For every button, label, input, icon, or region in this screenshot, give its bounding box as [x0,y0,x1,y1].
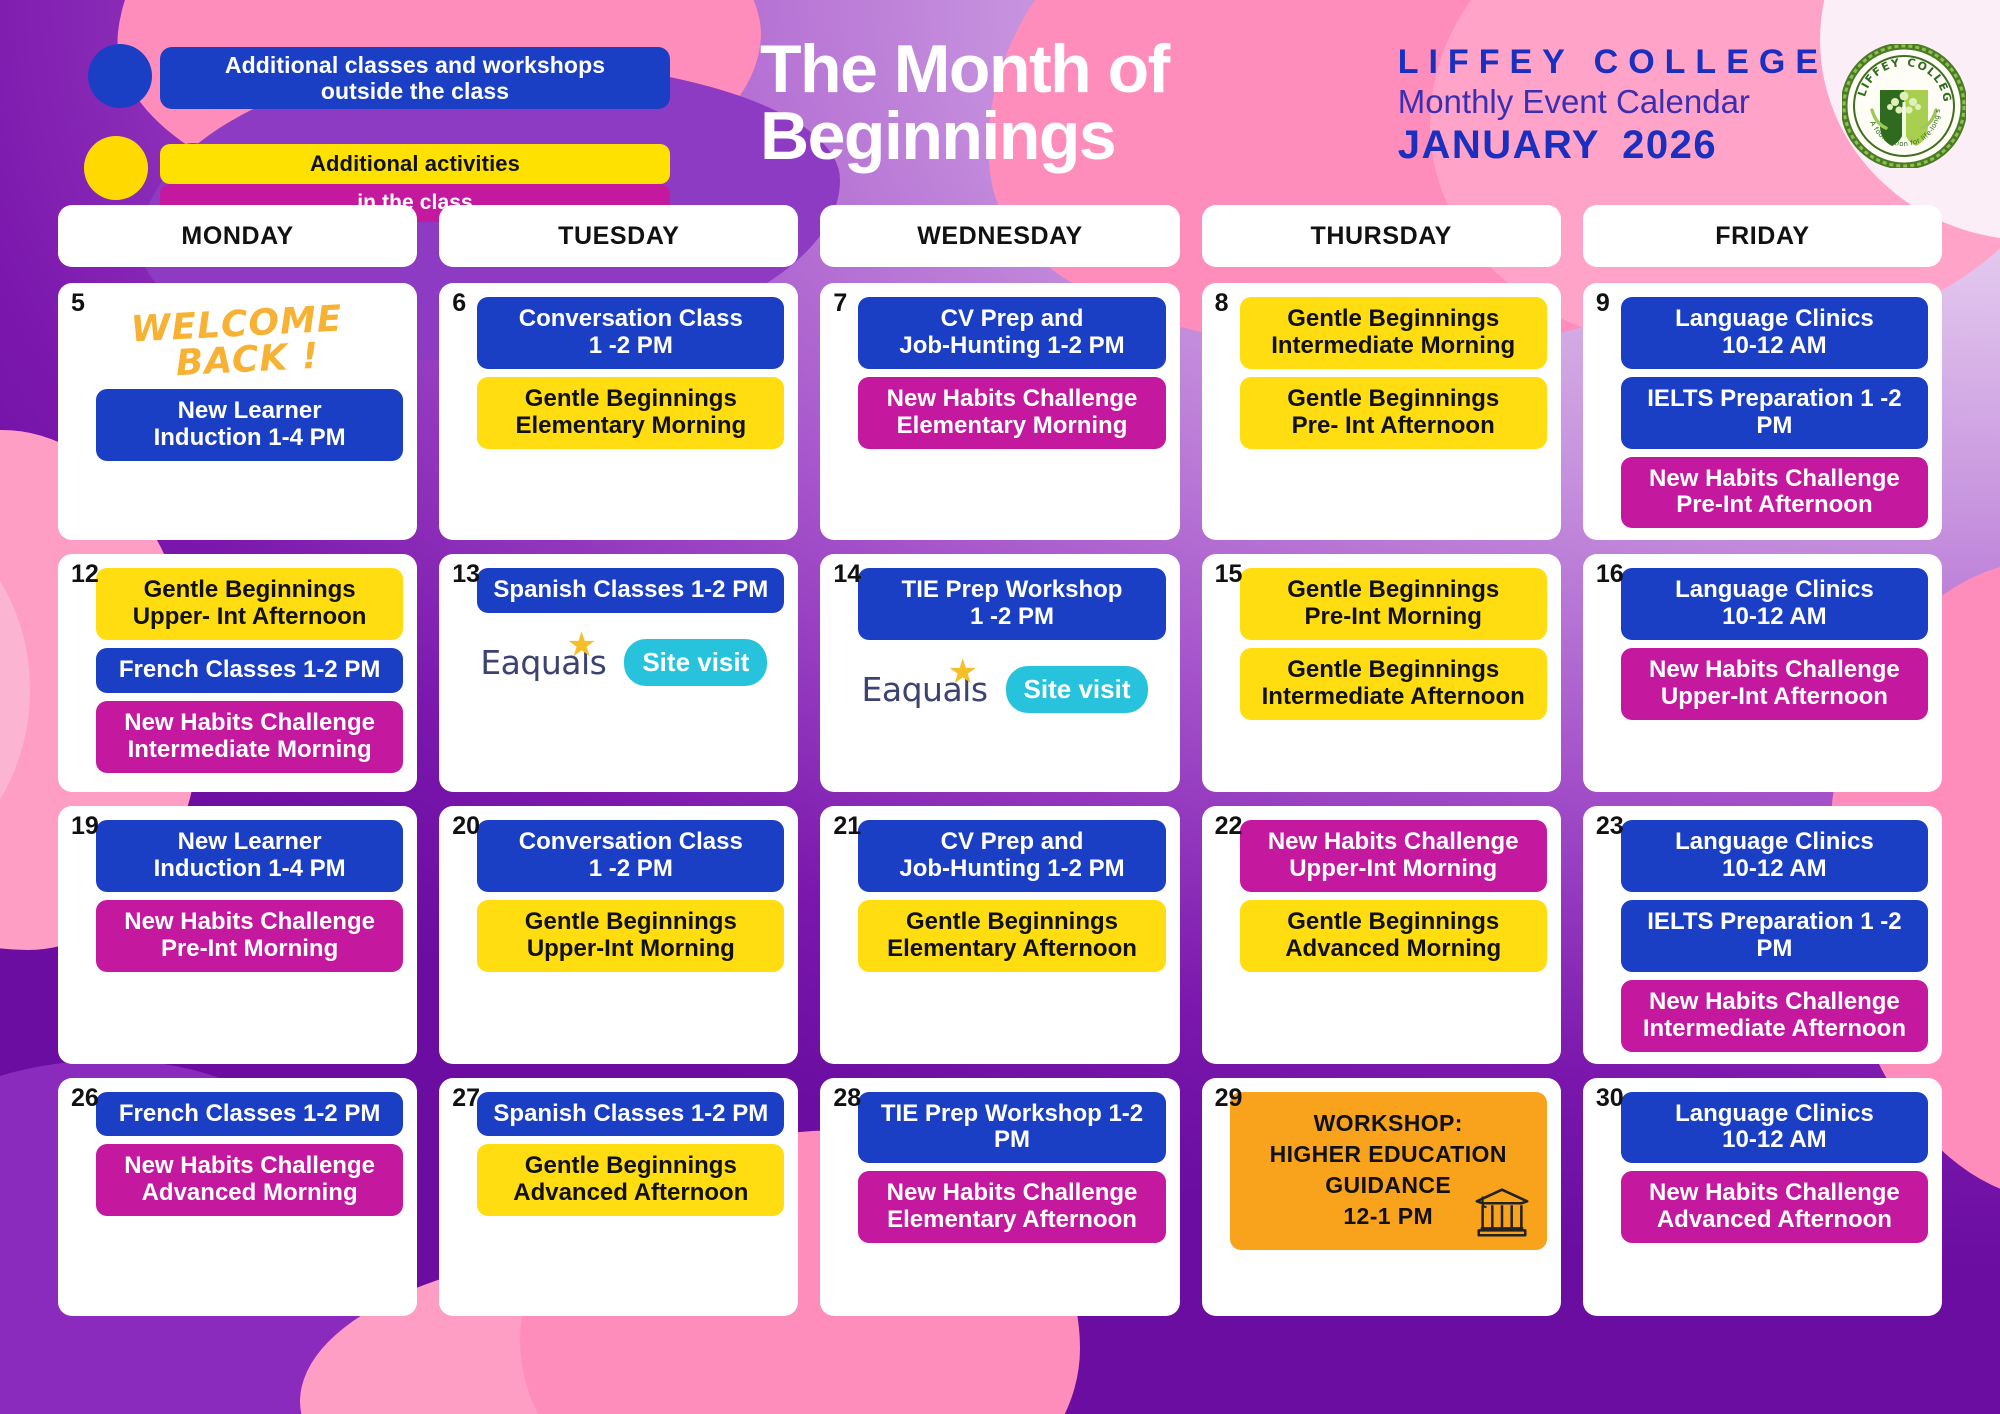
calendar-day-cell-30[interactable]: 30Language Clinics10-12 AMNew Habits Cha… [1583,1078,1942,1316]
calendar-day-cell-21[interactable]: 21CV Prep andJob-Hunting 1-2 PMGentle Be… [820,806,1179,1063]
day-events: Gentle BeginningsIntermediate MorningGen… [1216,293,1547,449]
day-number: 14 [833,560,861,589]
calendar-day-cell-29[interactable]: 29WORKSHOP:HIGHER EDUCATIONGUIDANCE12-1 … [1202,1078,1561,1316]
event-chip-yellow[interactable]: Gentle BeginningsPre- Int Afternoon [1240,377,1547,449]
calendar: MONDAYTUESDAYWEDNESDAYTHURSDAYFRIDAY 5WE… [0,205,2000,1330]
calendar-day-cell-26[interactable]: 26French Classes 1-2 PMNew Habits Challe… [58,1078,417,1316]
event-chip-magenta[interactable]: New Habits ChallengePre-Int Morning [96,900,403,972]
day-events: Conversation Class1 -2 PMGentle Beginnin… [453,293,784,449]
day-number: 7 [833,289,847,318]
legend-label-outside-class: Additional classes and workshopsoutside … [225,52,605,105]
day-number: 27 [452,1084,480,1113]
event-chip-blue[interactable]: Conversation Class1 -2 PM [477,820,784,892]
calendar-day-cell-19[interactable]: 19New LearnerInduction 1-4 PMNew Habits … [58,806,417,1063]
eaquals-logo: Eaquals★ [862,670,988,709]
day-number: 19 [71,812,99,841]
day-header-tuesday: TUESDAY [439,205,798,267]
day-number: 22 [1215,812,1243,841]
day-events: Gentle BeginningsUpper- Int AfternoonFre… [72,564,403,772]
day-events: New LearnerInduction 1-4 PMNew Habits Ch… [72,816,403,972]
event-chip-blue[interactable]: Spanish Classes 1-2 PM [477,1092,784,1137]
calendar-day-cell-12[interactable]: 12Gentle BeginningsUpper- Int AfternoonF… [58,554,417,792]
event-chip-blue[interactable]: French Classes 1-2 PM [96,1092,403,1137]
page-title-line2: Beginnings [760,103,1280,170]
calendar-weeks: 5WELCOMEBACK !New LearnerInduction 1-4 P… [0,283,2000,1316]
day-number: 20 [452,812,480,841]
event-chip-magenta[interactable]: New Habits ChallengePre-Int Afternoon [1621,457,1928,529]
event-chip-blue[interactable]: Language Clinics10-12 AM [1621,1092,1928,1164]
day-number: 21 [833,812,861,841]
calendar-week-row: 26French Classes 1-2 PMNew Habits Challe… [0,1078,2000,1316]
event-chip-yellow[interactable]: Gentle BeginningsAdvanced Afternoon [477,1144,784,1216]
page-title: The Month of Beginnings [760,36,1280,169]
day-number: 15 [1215,560,1243,589]
event-chip-blue[interactable]: CV Prep andJob-Hunting 1-2 PM [858,820,1165,892]
day-events: Spanish Classes 1-2 PMEaquals★Site visit [453,564,784,686]
day-events: WELCOMEBACK !New LearnerInduction 1-4 PM [72,293,403,461]
legend-item-additional-activities: Additional activities [160,144,670,184]
calendar-day-cell-20[interactable]: 20Conversation Class1 -2 PMGentle Beginn… [439,806,798,1063]
page-title-line1: The Month of [760,31,1169,107]
calendar-week-row: 5WELCOMEBACK !New LearnerInduction 1-4 P… [0,283,2000,540]
day-events: Spanish Classes 1-2 PMGentle BeginningsA… [453,1088,784,1217]
calendar-day-cell-27[interactable]: 27Spanish Classes 1-2 PMGentle Beginning… [439,1078,798,1316]
day-number: 5 [71,289,85,318]
calendar-day-cell-22[interactable]: 22New Habits ChallengeUpper-Int MorningG… [1202,806,1561,1063]
liffey-college-crest-logo: LIFFEY COLLEGE A foundation for life-lon… [1842,44,1966,168]
event-chip-yellow[interactable]: Gentle BeginningsPre-Int Morning [1240,568,1547,640]
day-header-thursday: THURSDAY [1202,205,1561,267]
event-chip-blue[interactable]: Spanish Classes 1-2 PM [477,568,784,613]
brand-text: LIFFEY COLLEGE Monthly Event Calendar JA… [1398,45,1828,168]
calendar-week-row: 12Gentle BeginningsUpper- Int AfternoonF… [0,554,2000,792]
brand-name: LIFFEY COLLEGE [1398,45,1828,79]
calendar-day-cell-5[interactable]: 5WELCOMEBACK !New LearnerInduction 1-4 P… [58,283,417,540]
event-chip-blue[interactable]: New LearnerInduction 1-4 PM [96,820,403,892]
university-icon [1471,1180,1533,1242]
legend-dot-yellow [84,136,148,200]
event-chip-yellow[interactable]: Gentle BeginningsIntermediate Afternoon [1240,648,1547,720]
eaquals-site-visit-row: Eaquals★Site visit [453,639,784,686]
brand-year: 2026 [1622,123,1717,167]
legend-item-outside-class: Additional classes and workshopsoutside … [160,47,670,109]
event-chip-magenta[interactable]: New Habits ChallengeIntermediate Afterno… [1621,980,1928,1052]
day-number: 23 [1596,812,1624,841]
brand-block: LIFFEY COLLEGE Monthly Event Calendar JA… [1398,44,1966,168]
day-number: 8 [1215,289,1229,318]
day-header-monday: MONDAY [58,205,417,267]
calendar-day-cell-14[interactable]: 14TIE Prep Workshop1 -2 PMEaquals★Site v… [820,554,1179,792]
event-chip-magenta[interactable]: New Habits ChallengeUpper-Int Afternoon [1621,648,1928,720]
day-events: WORKSHOP:HIGHER EDUCATIONGUIDANCE12-1 PM [1216,1088,1547,1250]
calendar-week-row: 19New LearnerInduction 1-4 PMNew Habits … [0,806,2000,1063]
day-events: CV Prep andJob-Hunting 1-2 PMGentle Begi… [834,816,1165,972]
legend-label-additional-activities: Additional activities [310,151,520,176]
event-chip-orange[interactable]: WORKSHOP:HIGHER EDUCATIONGUIDANCE12-1 PM [1230,1092,1547,1250]
day-number: 16 [1596,560,1624,589]
site-visit-badge[interactable]: Site visit [624,639,767,686]
brand-month-year: JANUARY2026 [1398,123,1828,167]
day-number: 9 [1596,289,1610,318]
calendar-day-cell-13[interactable]: 13Spanish Classes 1-2 PMEaquals★Site vis… [439,554,798,792]
day-number: 12 [71,560,99,589]
calendar-day-headers: MONDAYTUESDAYWEDNESDAYTHURSDAYFRIDAY [0,205,2000,267]
calendar-day-cell-9[interactable]: 9Language Clinics10-12 AMIELTS Preparati… [1583,283,1942,540]
calendar-day-cell-6[interactable]: 6Conversation Class1 -2 PMGentle Beginni… [439,283,798,540]
day-events: TIE Prep Workshop 1-2 PMNew Habits Chall… [834,1088,1165,1244]
day-events: Language Clinics10-12 AMNew Habits Chall… [1597,564,1928,720]
event-chip-blue[interactable]: IELTS Preparation 1 -2 PM [1621,377,1928,449]
day-header-friday: FRIDAY [1583,205,1942,267]
day-events: New Habits ChallengeUpper-Int MorningGen… [1216,816,1547,972]
event-chip-yellow[interactable]: Gentle BeginningsUpper- Int Afternoon [96,568,403,640]
event-chip-yellow[interactable]: Gentle BeginningsElementary Morning [477,377,784,449]
event-chip-blue[interactable]: CV Prep andJob-Hunting 1-2 PM [858,297,1165,369]
event-chip-yellow[interactable]: Gentle BeginningsElementary Afternoon [858,900,1165,972]
event-chip-blue[interactable]: TIE Prep Workshop1 -2 PM [858,568,1165,640]
event-chip-magenta[interactable]: New Habits ChallengeElementary Morning [858,377,1165,449]
eaquals-site-visit-row: Eaquals★Site visit [834,666,1165,713]
event-chip-magenta[interactable]: New Habits ChallengeAdvanced Afternoon [1621,1171,1928,1243]
day-events: French Classes 1-2 PMNew Habits Challeng… [72,1088,403,1217]
day-events: Language Clinics10-12 AMIELTS Preparatio… [1597,293,1928,528]
day-events: Language Clinics10-12 AMNew Habits Chall… [1597,1088,1928,1244]
brand-subtitle: Monthly Event Calendar [1398,85,1828,120]
day-number: 29 [1215,1084,1243,1113]
event-chip-magenta[interactable]: New Habits ChallengeElementary Afternoon [858,1171,1165,1243]
day-header-wednesday: WEDNESDAY [820,205,1179,267]
event-chip-blue[interactable]: New LearnerInduction 1-4 PM [96,389,403,461]
page-header: Additional classes and workshopsoutside … [0,0,2000,205]
event-chip-magenta[interactable]: New Habits ChallengeIntermediate Morning [96,701,403,773]
event-chip-blue[interactable]: Language Clinics10-12 AM [1621,820,1928,892]
event-chip-blue[interactable]: TIE Prep Workshop 1-2 PM [858,1092,1165,1164]
welcome-back-graphic: WELCOMEBACK ! [70,298,405,387]
event-chip-yellow[interactable]: Gentle BeginningsAdvanced Morning [1240,900,1547,972]
event-chip-magenta[interactable]: New Habits ChallengeUpper-Int Morning [1240,820,1547,892]
day-number: 28 [833,1084,861,1113]
day-number: 6 [452,289,466,318]
day-number: 30 [1596,1084,1624,1113]
event-chip-blue[interactable]: Language Clinics10-12 AM [1621,568,1928,640]
site-visit-badge[interactable]: Site visit [1006,666,1149,713]
star-icon: ★ [948,655,978,689]
star-icon: ★ [566,628,596,662]
brand-month: JANUARY [1398,123,1600,167]
day-events: TIE Prep Workshop1 -2 PMEaquals★Site vis… [834,564,1165,713]
calendar-day-cell-23[interactable]: 23Language Clinics10-12 AMIELTS Preparat… [1583,806,1942,1063]
day-events: Conversation Class1 -2 PMGentle Beginnin… [453,816,784,972]
event-chip-magenta[interactable]: New Habits ChallengeAdvanced Morning [96,1144,403,1216]
eaquals-logo: Eaquals★ [480,643,606,682]
calendar-day-cell-8[interactable]: 8Gentle BeginningsIntermediate MorningGe… [1202,283,1561,540]
event-chip-blue[interactable]: IELTS Preparation 1 -2 PM [1621,900,1928,972]
calendar-day-cell-16[interactable]: 16Language Clinics10-12 AMNew Habits Cha… [1583,554,1942,792]
day-number: 26 [71,1084,99,1113]
calendar-day-cell-28[interactable]: 28TIE Prep Workshop 1-2 PMNew Habits Cha… [820,1078,1179,1316]
event-chip-yellow[interactable]: Gentle BeginningsUpper-Int Morning [477,900,784,972]
calendar-day-cell-15[interactable]: 15Gentle BeginningsPre-Int MorningGentle… [1202,554,1561,792]
event-chip-blue[interactable]: Language Clinics10-12 AM [1621,297,1928,369]
event-chip-blue[interactable]: French Classes 1-2 PM [96,648,403,693]
day-events: Language Clinics10-12 AMIELTS Preparatio… [1597,816,1928,1051]
legend-dot-blue [88,44,152,108]
event-chip-yellow[interactable]: Gentle BeginningsIntermediate Morning [1240,297,1547,369]
day-events: Gentle BeginningsPre-Int MorningGentle B… [1216,564,1547,720]
calendar-day-cell-7[interactable]: 7CV Prep andJob-Hunting 1-2 PMNew Habits… [820,283,1179,540]
day-number: 13 [452,560,480,589]
event-chip-blue[interactable]: Conversation Class1 -2 PM [477,297,784,369]
day-events: CV Prep andJob-Hunting 1-2 PMNew Habits … [834,293,1165,449]
